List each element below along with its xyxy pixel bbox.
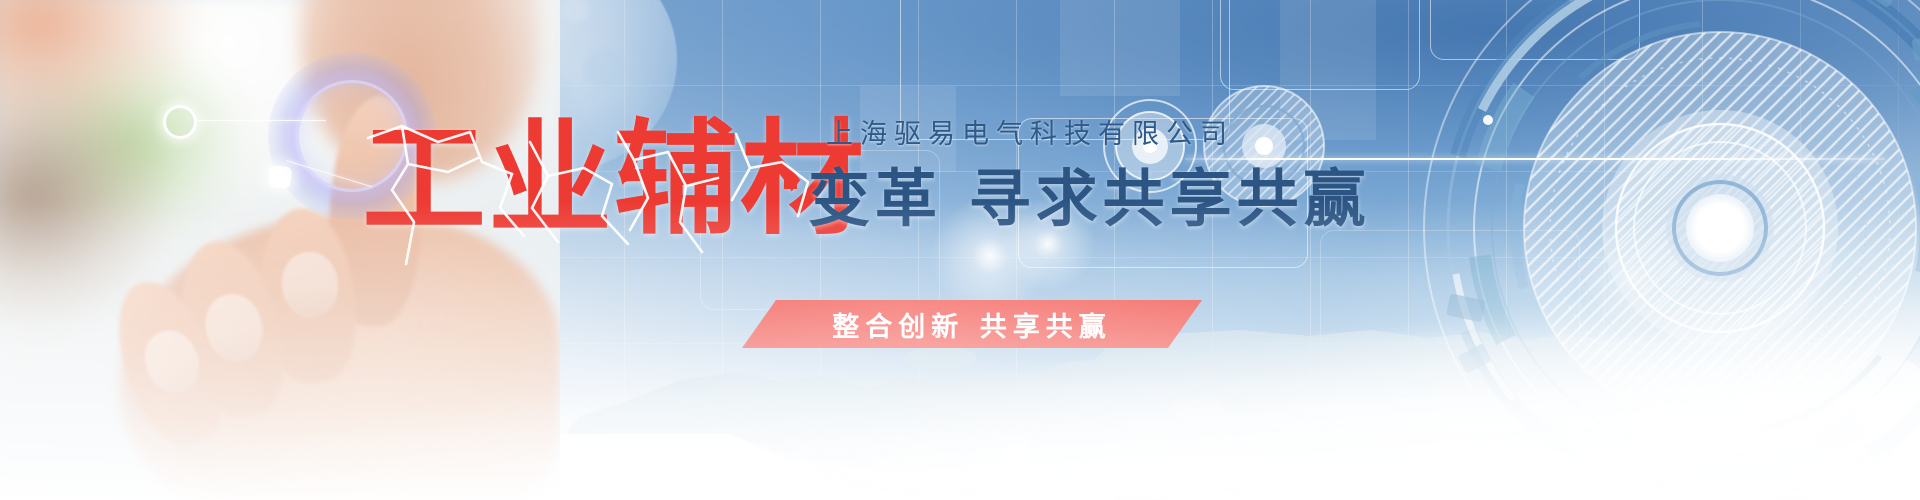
connector-line [196, 120, 326, 121]
company-name: 上海驱易电气科技有限公司 [826, 121, 1234, 148]
decor-panel [1060, 0, 1180, 96]
connector-node-square [268, 165, 292, 189]
connector-line [1185, 158, 1885, 160]
cloud-overlay [0, 200, 1920, 500]
banner-stage: 工业辅材 上海驱易电气科技有限公司 变革 寻求共享共赢 [0, 0, 1920, 500]
connector-node-circle [163, 105, 197, 139]
decor-red-square [784, 176, 797, 189]
